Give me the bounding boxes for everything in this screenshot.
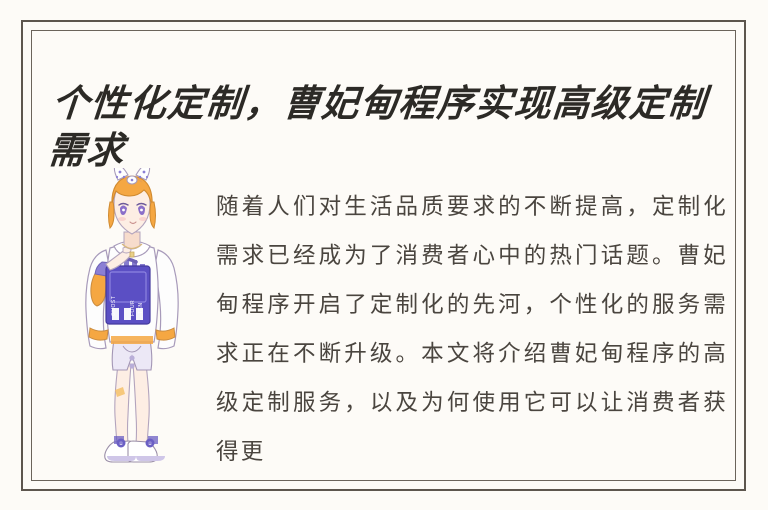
shorts-group bbox=[112, 340, 152, 370]
article-body-text: 随着人们对生活品质要求的不断提高，定制化需求已经成为了消费者心中的热门话题。曹妃… bbox=[216, 182, 728, 476]
legs-group bbox=[115, 364, 149, 444]
article-page: 个性化定制，曹妃甸程序实现高级定制需求 bbox=[0, 0, 768, 510]
page-title: 个性化定制，曹妃甸程序实现高级定制需求 bbox=[46, 81, 730, 175]
character-illustration: GHOST FOUR TEN bbox=[62, 168, 210, 480]
shoes-group bbox=[105, 436, 165, 462]
head-group bbox=[109, 168, 156, 234]
